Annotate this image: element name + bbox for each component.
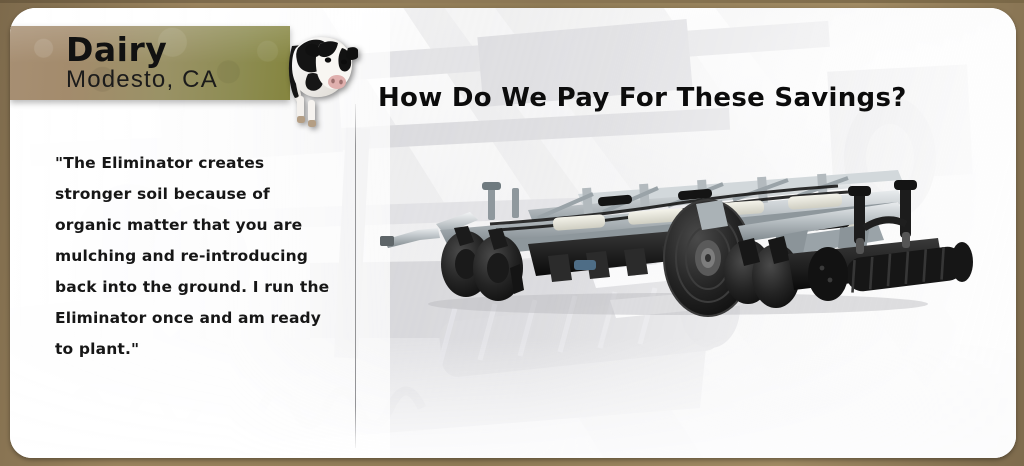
vertical-divider xyxy=(355,104,356,448)
eliminator-machine-image xyxy=(378,168,978,318)
farm-header-bar: Dairy Modesto, CA xyxy=(10,26,290,100)
page-headline: How Do We Pay For These Savings? xyxy=(378,83,907,113)
content-panel: Dairy Modesto, CA xyxy=(10,8,1016,458)
farm-type-title: Dairy xyxy=(66,32,218,68)
outer-frame: Dairy Modesto, CA xyxy=(0,0,1024,466)
holstein-cow-image xyxy=(278,18,358,130)
testimonial-quote: "The Eliminator creates stronger soil be… xyxy=(55,148,335,365)
farm-location-subtitle: Modesto, CA xyxy=(66,66,218,94)
header-text-group: Dairy Modesto, CA xyxy=(66,32,218,94)
